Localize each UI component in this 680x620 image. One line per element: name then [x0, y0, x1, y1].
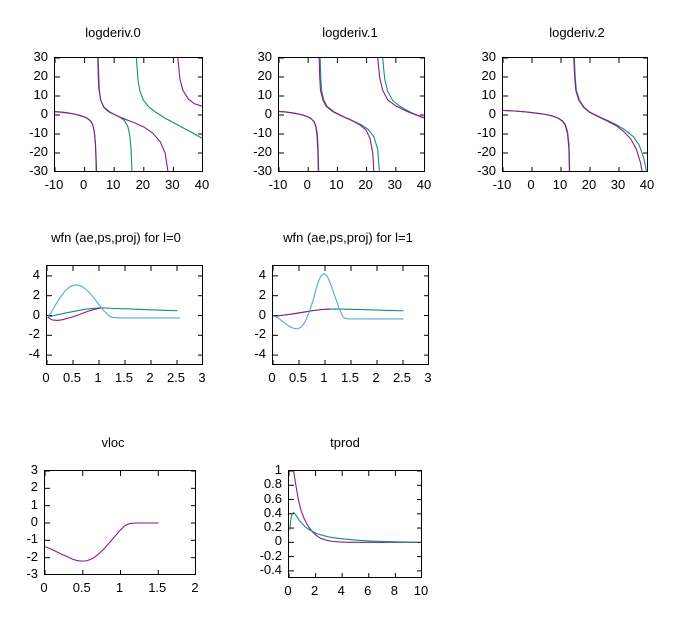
- ytick-label-wfn_l0: -2: [0, 327, 40, 340]
- xtick-label-tprod: 10: [401, 584, 441, 597]
- ytick-label-vloc: 3: [0, 463, 38, 476]
- ytick-label-logderiv2: -30: [456, 164, 496, 177]
- ytick-label-logderiv2: 20: [456, 69, 496, 82]
- ytick-label-logderiv1: -10: [232, 126, 272, 139]
- ytick-label-tprod: 0.8: [242, 477, 282, 490]
- ytick-label-vloc: 2: [0, 480, 38, 493]
- ytick-label-wfn_l1: 4: [226, 268, 266, 281]
- ytick-label-logderiv0: 20: [8, 69, 48, 82]
- xtick-label-vloc: 0: [24, 581, 64, 594]
- ytick-label-wfn_l1: 0: [226, 308, 266, 321]
- plot-curves-vloc: [45, 471, 196, 575]
- ytick-label-logderiv1: -20: [232, 145, 272, 158]
- ytick-label-vloc: -3: [0, 567, 38, 580]
- ytick-label-logderiv2: -20: [456, 145, 496, 158]
- panel-title-tprod: tprod: [232, 435, 458, 450]
- ytick-label-tprod: 0.6: [242, 492, 282, 505]
- xtick-label-logderiv0: 40: [182, 178, 222, 191]
- ytick-label-logderiv0: 10: [8, 88, 48, 101]
- xtick-label-vloc: 1: [100, 581, 140, 594]
- ytick-label-logderiv0: 30: [8, 50, 48, 63]
- ytick-label-logderiv2: 0: [456, 107, 496, 120]
- ytick-label-logderiv1: 20: [232, 69, 272, 82]
- ytick-label-wfn_l0: 0: [0, 308, 40, 321]
- ytick-label-logderiv1: -30: [232, 164, 272, 177]
- ytick-label-tprod: -0.4: [242, 563, 282, 576]
- ytick-label-logderiv1: 10: [232, 88, 272, 101]
- plot-curves-wfn-l1: [273, 266, 429, 365]
- panel-title-logderiv2: logderiv.2: [474, 25, 680, 40]
- plot-area-logderiv1: [278, 57, 425, 172]
- xtick-label-vloc: 0.5: [62, 581, 102, 594]
- ytick-label-vloc: -1: [0, 532, 38, 545]
- plot-curves-tprod: [289, 471, 422, 578]
- ytick-label-tprod: 0.4: [242, 506, 282, 519]
- ytick-label-logderiv0: 0: [8, 107, 48, 120]
- plot-area-tprod: [288, 470, 422, 578]
- panel-title-logderiv1: logderiv.1: [248, 25, 452, 40]
- ytick-label-tprod: 1: [242, 463, 282, 476]
- ytick-label-logderiv1: 0: [232, 107, 272, 120]
- xtick-label-wfn_l1: 3: [408, 371, 448, 384]
- ytick-label-logderiv0: -30: [8, 164, 48, 177]
- plot-area-wfn-l1: [272, 265, 429, 365]
- plot-area-vloc: [44, 470, 196, 575]
- ytick-label-wfn_l1: 2: [226, 288, 266, 301]
- ytick-label-logderiv2: 30: [456, 50, 496, 63]
- ytick-label-vloc: 0: [0, 515, 38, 528]
- panel-title-vloc: vloc: [0, 435, 226, 450]
- ytick-label-logderiv1: 30: [232, 50, 272, 63]
- ytick-label-wfn_l1: -2: [226, 327, 266, 340]
- ytick-label-wfn_l0: 2: [0, 288, 40, 301]
- xtick-label-vloc: 2: [175, 581, 215, 594]
- xtick-label-vloc: 1.5: [137, 581, 177, 594]
- xtick-label-logderiv2: 40: [627, 178, 667, 191]
- plot-area-wfn-l0: [46, 265, 203, 365]
- ytick-label-vloc: -2: [0, 550, 38, 563]
- plot-area-logderiv2: [502, 57, 648, 172]
- panel-title-logderiv0: logderiv.0: [0, 25, 226, 40]
- ytick-label-tprod: -0.2: [242, 549, 282, 562]
- ytick-label-logderiv2: 10: [456, 88, 496, 101]
- plot-curves-logderiv0: [55, 58, 203, 172]
- plot-curves-wfn-l0: [47, 266, 203, 365]
- ytick-label-tprod: 0.2: [242, 520, 282, 533]
- plot-curves-logderiv1: [279, 58, 425, 172]
- ytick-label-wfn_l1: -4: [226, 347, 266, 360]
- plot-curves-logderiv2: [503, 58, 648, 172]
- ytick-label-vloc: 1: [0, 498, 38, 511]
- ytick-label-logderiv0: -20: [8, 145, 48, 158]
- xtick-label-wfn_l0: 3: [182, 371, 222, 384]
- panel-title-wfn-l1: wfn (ae,ps,proj) for l=1: [232, 230, 464, 245]
- ytick-label-logderiv2: -10: [456, 126, 496, 139]
- ytick-label-wfn_l0: 4: [0, 268, 40, 281]
- xtick-label-logderiv1: 40: [404, 178, 444, 191]
- plot-area-logderiv0: [54, 57, 203, 172]
- ytick-label-tprod: 0: [242, 534, 282, 547]
- panel-title-wfn-l0: wfn (ae,ps,proj) for l=0: [0, 230, 232, 245]
- ytick-label-wfn_l0: -4: [0, 347, 40, 360]
- ytick-label-logderiv0: -10: [8, 126, 48, 139]
